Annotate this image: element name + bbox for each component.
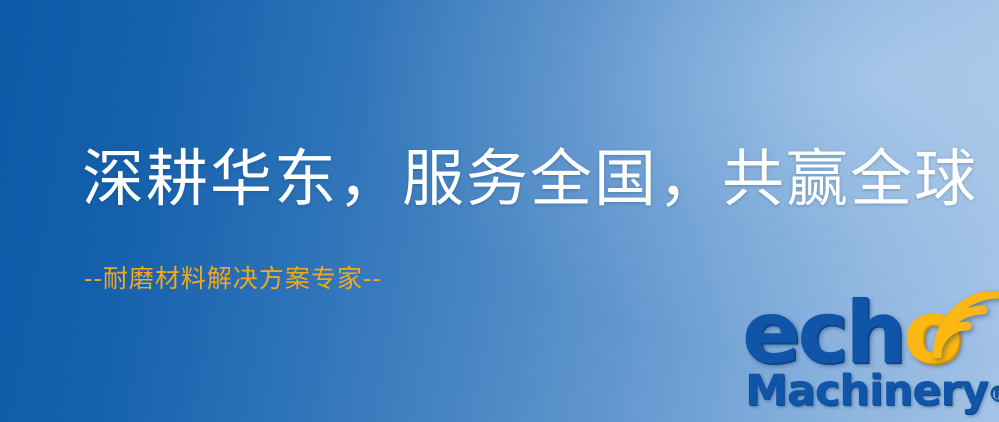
logo-tagline: Machinery® bbox=[745, 370, 999, 413]
logo-tagline-text: Machinery bbox=[745, 366, 988, 416]
promo-banner: 深耕华东，服务全国，共赢全球 --耐磨材料解决方案专家-- echo Machi… bbox=[0, 0, 999, 422]
banner-headline: 深耕华东，服务全国，共赢全球 bbox=[82, 148, 978, 210]
banner-subtitle: --耐磨材料解决方案专家-- bbox=[84, 266, 382, 291]
registered-trademark-mark: ® bbox=[988, 382, 999, 406]
logo-wordmark: echo bbox=[742, 290, 960, 376]
wifi-arcs-icon bbox=[929, 292, 999, 358]
echo-machinery-logo: echo Machinery® bbox=[742, 296, 999, 422]
